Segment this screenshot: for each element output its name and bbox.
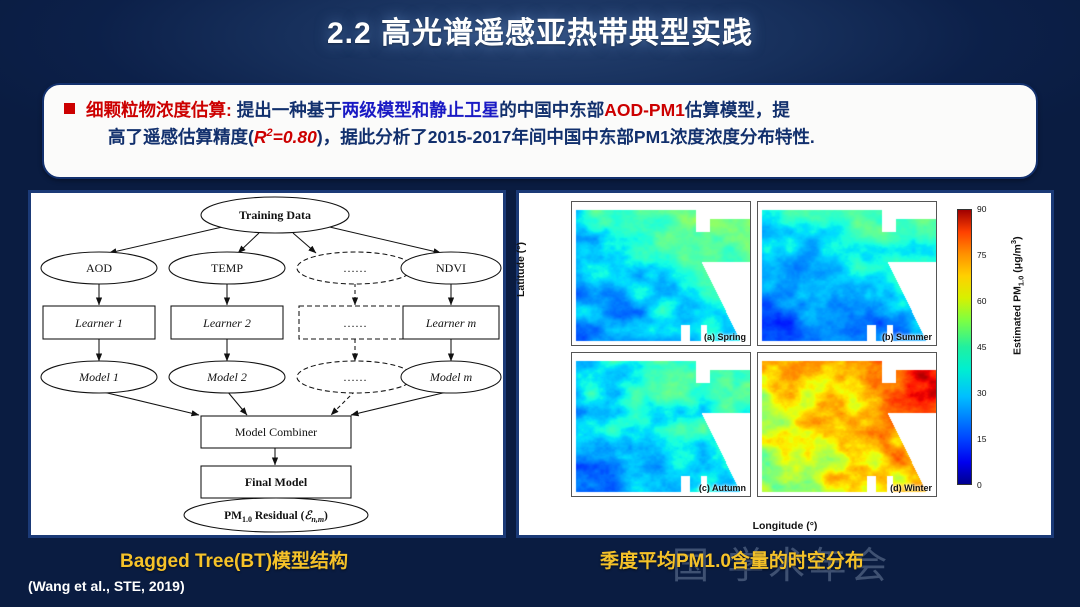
node-model-m: Model m <box>401 361 501 393</box>
callout-line-2: 高了遥感估算精度(R2=0.80)，据此分析了2015-2017年间中国中东部P… <box>62 124 1018 151</box>
map-canvas-autumn <box>572 353 751 497</box>
model-ellipsis-label: …… <box>343 370 367 384</box>
model-1-label: Model 1 <box>78 370 119 384</box>
colorbar-label: Estimated PM1.0 (μg/m3) <box>1009 236 1026 355</box>
map-cell-summer[interactable]: (b) Summer <box>757 201 937 346</box>
learner-m-label: Learner m <box>425 316 477 330</box>
colorbar-tick: 45 <box>977 342 986 352</box>
colorbar-tick: 75 <box>977 250 986 260</box>
map-cell-spring[interactable]: (a) Spring 40°N36°N32°N28°N24°N <box>571 201 751 346</box>
node-feature-ellipsis: …… <box>297 252 413 284</box>
pm-residual-rest: Residual ( <box>252 510 305 522</box>
cbar-label-pre: Estimated PM <box>1012 286 1024 355</box>
final-model-label: Final Model <box>245 475 308 489</box>
feature-temp-label: TEMP <box>211 261 243 275</box>
node-feature-ndvi: NDVI <box>401 252 501 284</box>
node-feature-temp: TEMP <box>169 252 285 284</box>
model-2-label: Model 2 <box>206 370 247 384</box>
callout-emphasis-title: 细颗粒物浓度估算: <box>86 100 232 120</box>
page-title: 2.2 高光谱遥感亚热带典型实践 <box>0 8 1080 52</box>
map-figure: Latitude (°) Longitude (°) (a) Spring 40… <box>519 193 1051 535</box>
pm-residual-pm: PM <box>224 510 242 522</box>
map-y-axis-label: Latitude (°) <box>515 242 527 297</box>
cbar-label-close: ) <box>1012 236 1024 240</box>
node-learner-1: Learner 1 <box>43 306 155 339</box>
pm1-seasonal-map-panel: Latitude (°) Longitude (°) (a) Spring 40… <box>516 190 1054 538</box>
map-cell-autumn[interactable]: (c) Autumn 40°N36°N32°N28°N24°N103°E109°… <box>571 352 751 497</box>
bagged-tree-svg: Training Data AOD TEMP …… NDVI Learner 1… <box>31 193 503 535</box>
pm-residual-sub: 1.0 <box>242 515 252 524</box>
map-canvas-spring <box>572 202 751 346</box>
colorbar-tick: 90 <box>977 204 986 214</box>
colorbar-gradient <box>957 209 972 485</box>
node-model-ellipsis: …… <box>297 361 413 393</box>
colorbar-tick: 15 <box>977 434 986 444</box>
learner-ellipsis-label: …… <box>343 316 367 330</box>
colorbar-tick: 30 <box>977 388 986 398</box>
map-tag-winter: (d) Winter <box>890 483 932 493</box>
caption-right: 季度平均PM1.0含量的时空分布 <box>600 546 864 573</box>
callout-text-e: )，据此分析了2015-2017年间中国中东部PM1浓度浓度分布特性. <box>317 127 815 147</box>
callout-text-c: 估算模型，提 <box>685 100 790 120</box>
callout-text-a: 提出一种基于 <box>232 100 342 120</box>
node-learner-ellipsis: …… <box>299 306 411 339</box>
node-pm-residual: PM1.0 Residual (ℰn,m) <box>184 498 368 532</box>
callout-line-1: 细颗粒物浓度估算: 提出一种基于两级模型和静止卫星的中国中东部AOD-PM1估算… <box>62 97 1018 124</box>
node-training-data: Training Data <box>201 197 349 233</box>
callout-text-b: 的中国中东部 <box>499 100 604 120</box>
model-combiner-label: Model Combiner <box>235 425 317 439</box>
colorbar-group: Estimated PM1.0 (μg/m3) 0153045607590 <box>951 205 1051 497</box>
map-tag-spring: (a) Spring <box>704 332 746 342</box>
map-tag-autumn: (c) Autumn <box>699 483 746 493</box>
map-canvas-winter <box>758 353 937 497</box>
feature-ndvi-label: NDVI <box>436 261 466 275</box>
callout-box: 细颗粒物浓度估算: 提出一种基于两级模型和静止卫星的中国中东部AOD-PM1估算… <box>42 83 1038 179</box>
cbar-label-sub: 1.0 <box>1017 276 1026 287</box>
learner-2-label: Learner 2 <box>202 316 251 330</box>
map-x-axis-label: Longitude (°) <box>519 520 1051 532</box>
r-squared-value: R2=0.80 <box>254 127 317 147</box>
learner-1-label: Learner 1 <box>74 316 123 330</box>
node-final-model: Final Model <box>201 466 351 498</box>
feature-ellipsis-label: …… <box>343 261 367 275</box>
feature-aod-label: AOD <box>86 261 112 275</box>
colorbar-tick: 0 <box>977 480 982 490</box>
citation-text: (Wang et al., STE, 2019) <box>28 578 185 594</box>
model-m-label: Model m <box>429 370 473 384</box>
bagged-tree-diagram-panel: Training Data AOD TEMP …… NDVI Learner 1… <box>28 190 506 538</box>
node-model-combiner: Model Combiner <box>201 416 351 448</box>
map-tag-summer: (b) Summer <box>882 332 932 342</box>
map-cell-winter[interactable]: (d) Winter 103°E109°E115°E121°E127°E <box>757 352 937 497</box>
node-feature-aod: AOD <box>41 252 157 284</box>
caption-left: Bagged Tree(BT)模型结构 <box>120 546 348 573</box>
callout-text-aod-pm1: AOD-PM1 <box>604 100 685 120</box>
node-learner-m: Learner m <box>403 306 499 339</box>
node-learner-2: Learner 2 <box>171 306 283 339</box>
r2-number: =0.80 <box>273 127 317 147</box>
node-model-1: Model 1 <box>41 361 157 393</box>
r2-base: R <box>254 127 267 147</box>
callout-text-blue: 两级模型和静止卫星 <box>342 100 500 120</box>
cbar-label-sup: 3 <box>1009 240 1018 244</box>
callout-text-d: 高了遥感估算精度( <box>108 127 254 147</box>
pm-residual-close: ) <box>324 510 328 522</box>
cbar-label-unit: (μg/m <box>1012 244 1024 276</box>
training-data-label: Training Data <box>239 208 311 222</box>
map-grid: (a) Spring 40°N36°N32°N28°N24°N (b) Summ… <box>571 201 937 497</box>
bullet-square-icon <box>64 103 75 114</box>
pm-residual-eps-sub: n,m <box>311 515 324 524</box>
colorbar-tick: 60 <box>977 296 986 306</box>
map-canvas-summer <box>758 202 937 346</box>
node-model-2: Model 2 <box>169 361 285 393</box>
